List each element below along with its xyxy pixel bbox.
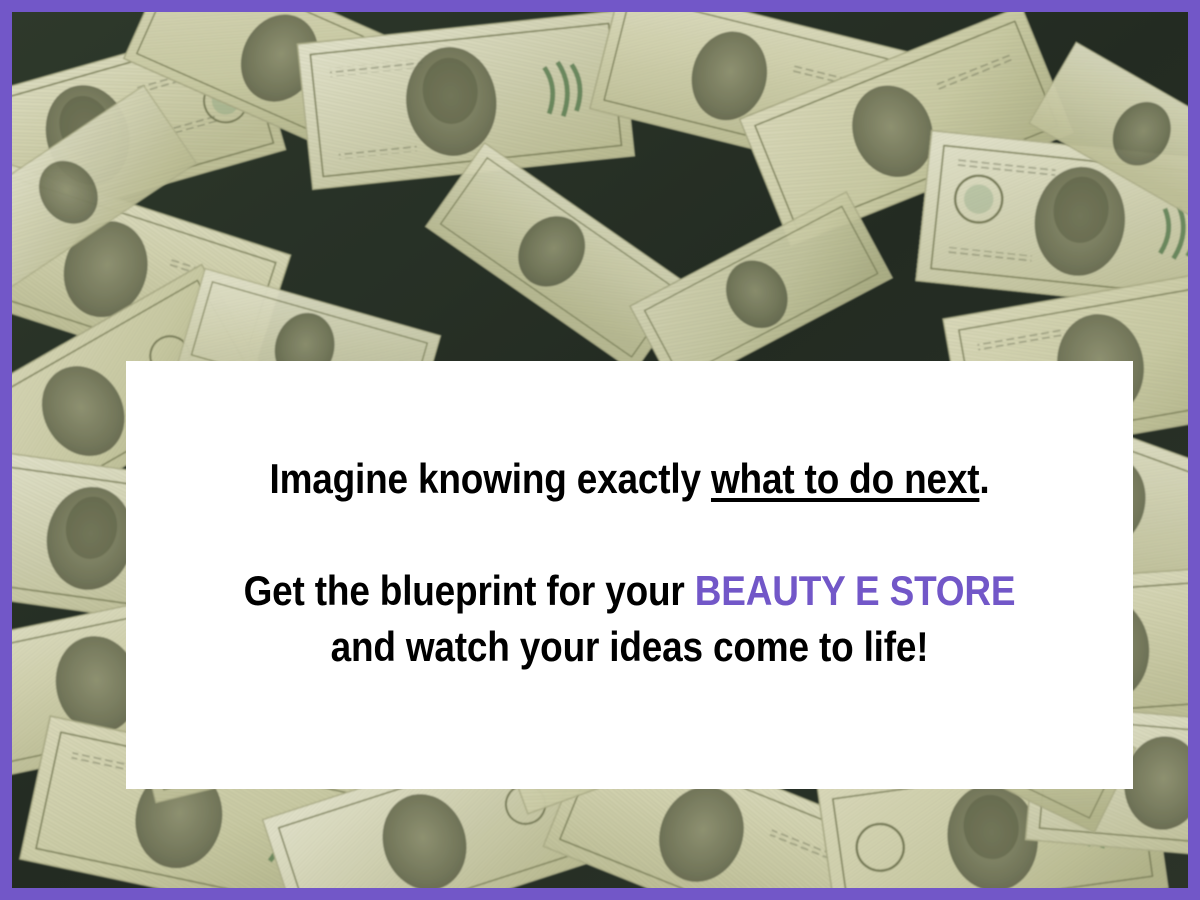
headline-line-3: and watch your ideas come to life!	[199, 619, 1061, 675]
headline-card: Imagine knowing exactly what to do next.…	[126, 361, 1133, 789]
headline-blank-line	[140, 507, 1119, 563]
headline-line-2: Get the blueprint for your BEAUTY E STOR…	[199, 563, 1061, 619]
headline-text-block: Imagine knowing exactly what to do next.…	[140, 451, 1119, 675]
headline-line3-text: and watch your ideas come to life!	[331, 623, 929, 670]
headline-line1-suffix: .	[979, 455, 989, 502]
slide-canvas: Imagine knowing exactly what to do next.…	[0, 0, 1200, 900]
headline-line-1: Imagine knowing exactly what to do next.	[199, 451, 1061, 507]
headline-line2-prefix: Get the blueprint for your	[244, 567, 695, 614]
headline-line1-prefix: Imagine knowing exactly	[269, 455, 710, 502]
headline-line1-emphasis: what to do next	[711, 455, 979, 502]
brand-name-beauty-e-store: BEAUTY E STORE	[695, 567, 1016, 614]
